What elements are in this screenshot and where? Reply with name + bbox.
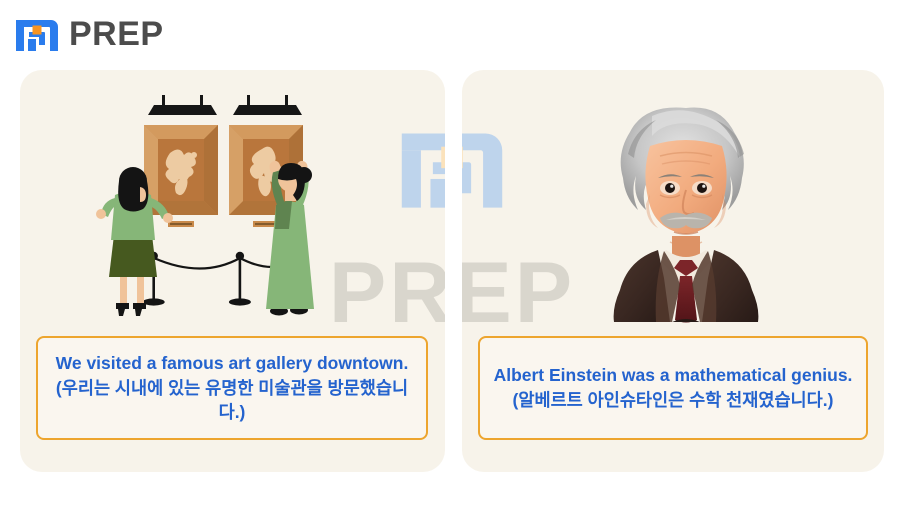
visitor-woman-green-dress: [266, 161, 314, 316]
art-gallery-illustration: [92, 95, 342, 323]
picture-lamp-left: [148, 95, 217, 115]
panel-divider: [445, 70, 462, 472]
brand-logo[interactable]: PREP: [14, 11, 164, 57]
framed-painting-left: [144, 125, 218, 227]
einstein-caption-text: Albert Einstein was a mathematical geniu…: [492, 363, 854, 413]
gallery-caption-box: We visited a famous art gallery downtown…: [36, 336, 428, 440]
brand-wordmark: PREP: [69, 17, 164, 51]
einstein-face: [645, 140, 726, 258]
prep-logo-mark-icon: [14, 11, 60, 57]
picture-lamp-right: [233, 95, 302, 115]
albert-einstein-portrait: [592, 98, 780, 323]
gallery-caption-text: We visited a famous art gallery downtown…: [50, 351, 414, 426]
einstein-caption-box: Albert Einstein was a mathematical geniu…: [478, 336, 868, 440]
